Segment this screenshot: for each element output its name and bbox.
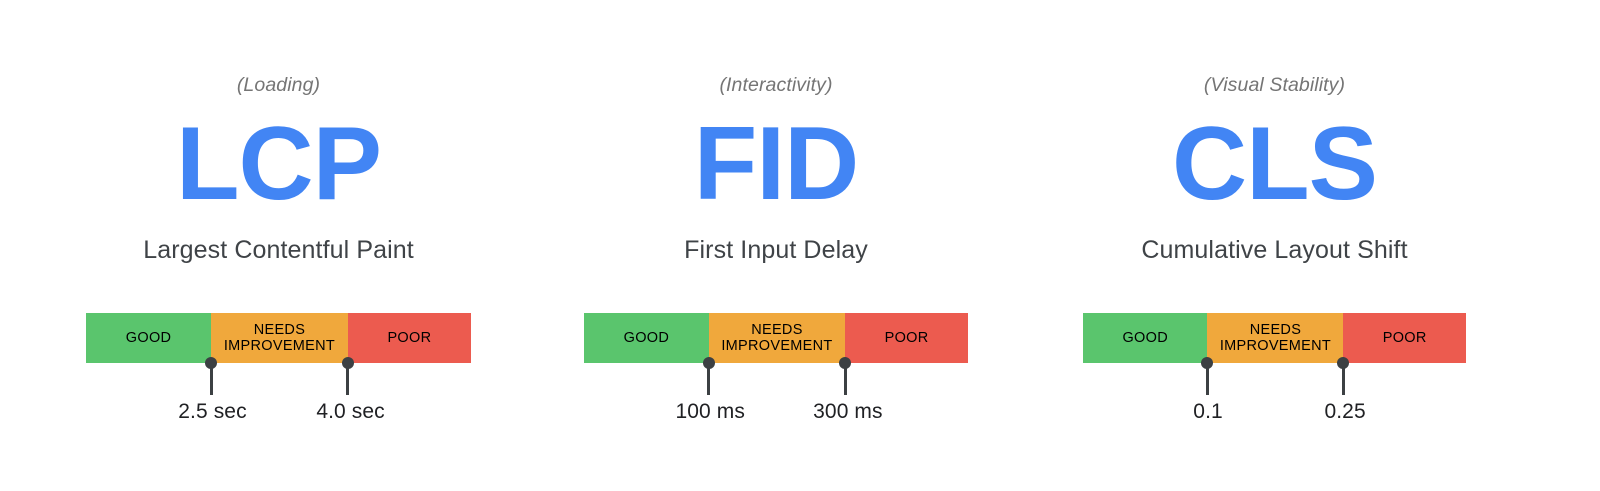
bar-segment-needs-improvement: NEEDS IMPROVEMENT [709, 313, 845, 363]
threshold-value: 4.0 sec [316, 399, 384, 425]
threshold-value: 100 ms [675, 399, 744, 425]
bar-segment-poor: POOR [348, 313, 471, 363]
marker-stem-icon [844, 363, 847, 395]
metric-full-name: Cumulative Layout Shift [1083, 234, 1466, 266]
threshold-bar: GOOD NEEDS IMPROVEMENT POOR [1083, 313, 1466, 363]
metric-card-fid: (Interactivity) FID First Input Delay GO… [499, 0, 998, 491]
bar-segment-good: GOOD [584, 313, 709, 363]
threshold-bar: GOOD NEEDS IMPROVEMENT POOR [584, 313, 968, 363]
metric-full-name: Largest Contentful Paint [86, 234, 471, 266]
bar-segment-good: GOOD [1083, 313, 1207, 363]
marker-stem-icon [1206, 363, 1209, 395]
metric-full-name: First Input Delay [584, 234, 968, 266]
bar-segment-good: GOOD [86, 313, 211, 363]
metric-acronym: CLS [1083, 108, 1466, 220]
threshold-value: 0.1 [1193, 399, 1223, 425]
metric-category-label: (Visual Stability) [1083, 73, 1466, 97]
bar-segment-poor: POOR [1343, 313, 1466, 363]
marker-stem-icon [1342, 363, 1345, 395]
bar-segment-poor: POOR [845, 313, 968, 363]
threshold-value: 0.25 [1324, 399, 1365, 425]
metric-card-lcp: (Loading) LCP Largest Contentful Paint G… [0, 0, 499, 491]
metric-category-label: (Loading) [86, 73, 471, 97]
marker-stem-icon [707, 363, 710, 395]
threshold-bar: GOOD NEEDS IMPROVEMENT POOR [86, 313, 471, 363]
metric-acronym: FID [584, 108, 968, 220]
bar-segment-needs-improvement: NEEDS IMPROVEMENT [211, 313, 348, 363]
marker-stem-icon [346, 363, 349, 395]
metric-card-cls: (Visual Stability) CLS Cumulative Layout… [998, 0, 1497, 491]
threshold-value: 2.5 sec [178, 399, 246, 425]
bar-segment-needs-improvement: NEEDS IMPROVEMENT [1207, 313, 1343, 363]
threshold-value: 300 ms [813, 399, 882, 425]
marker-stem-icon [210, 363, 213, 395]
core-web-vitals-chart: (Loading) LCP Largest Contentful Paint G… [0, 0, 1600, 491]
metric-category-label: (Interactivity) [584, 73, 968, 97]
metric-acronym: LCP [86, 108, 471, 220]
